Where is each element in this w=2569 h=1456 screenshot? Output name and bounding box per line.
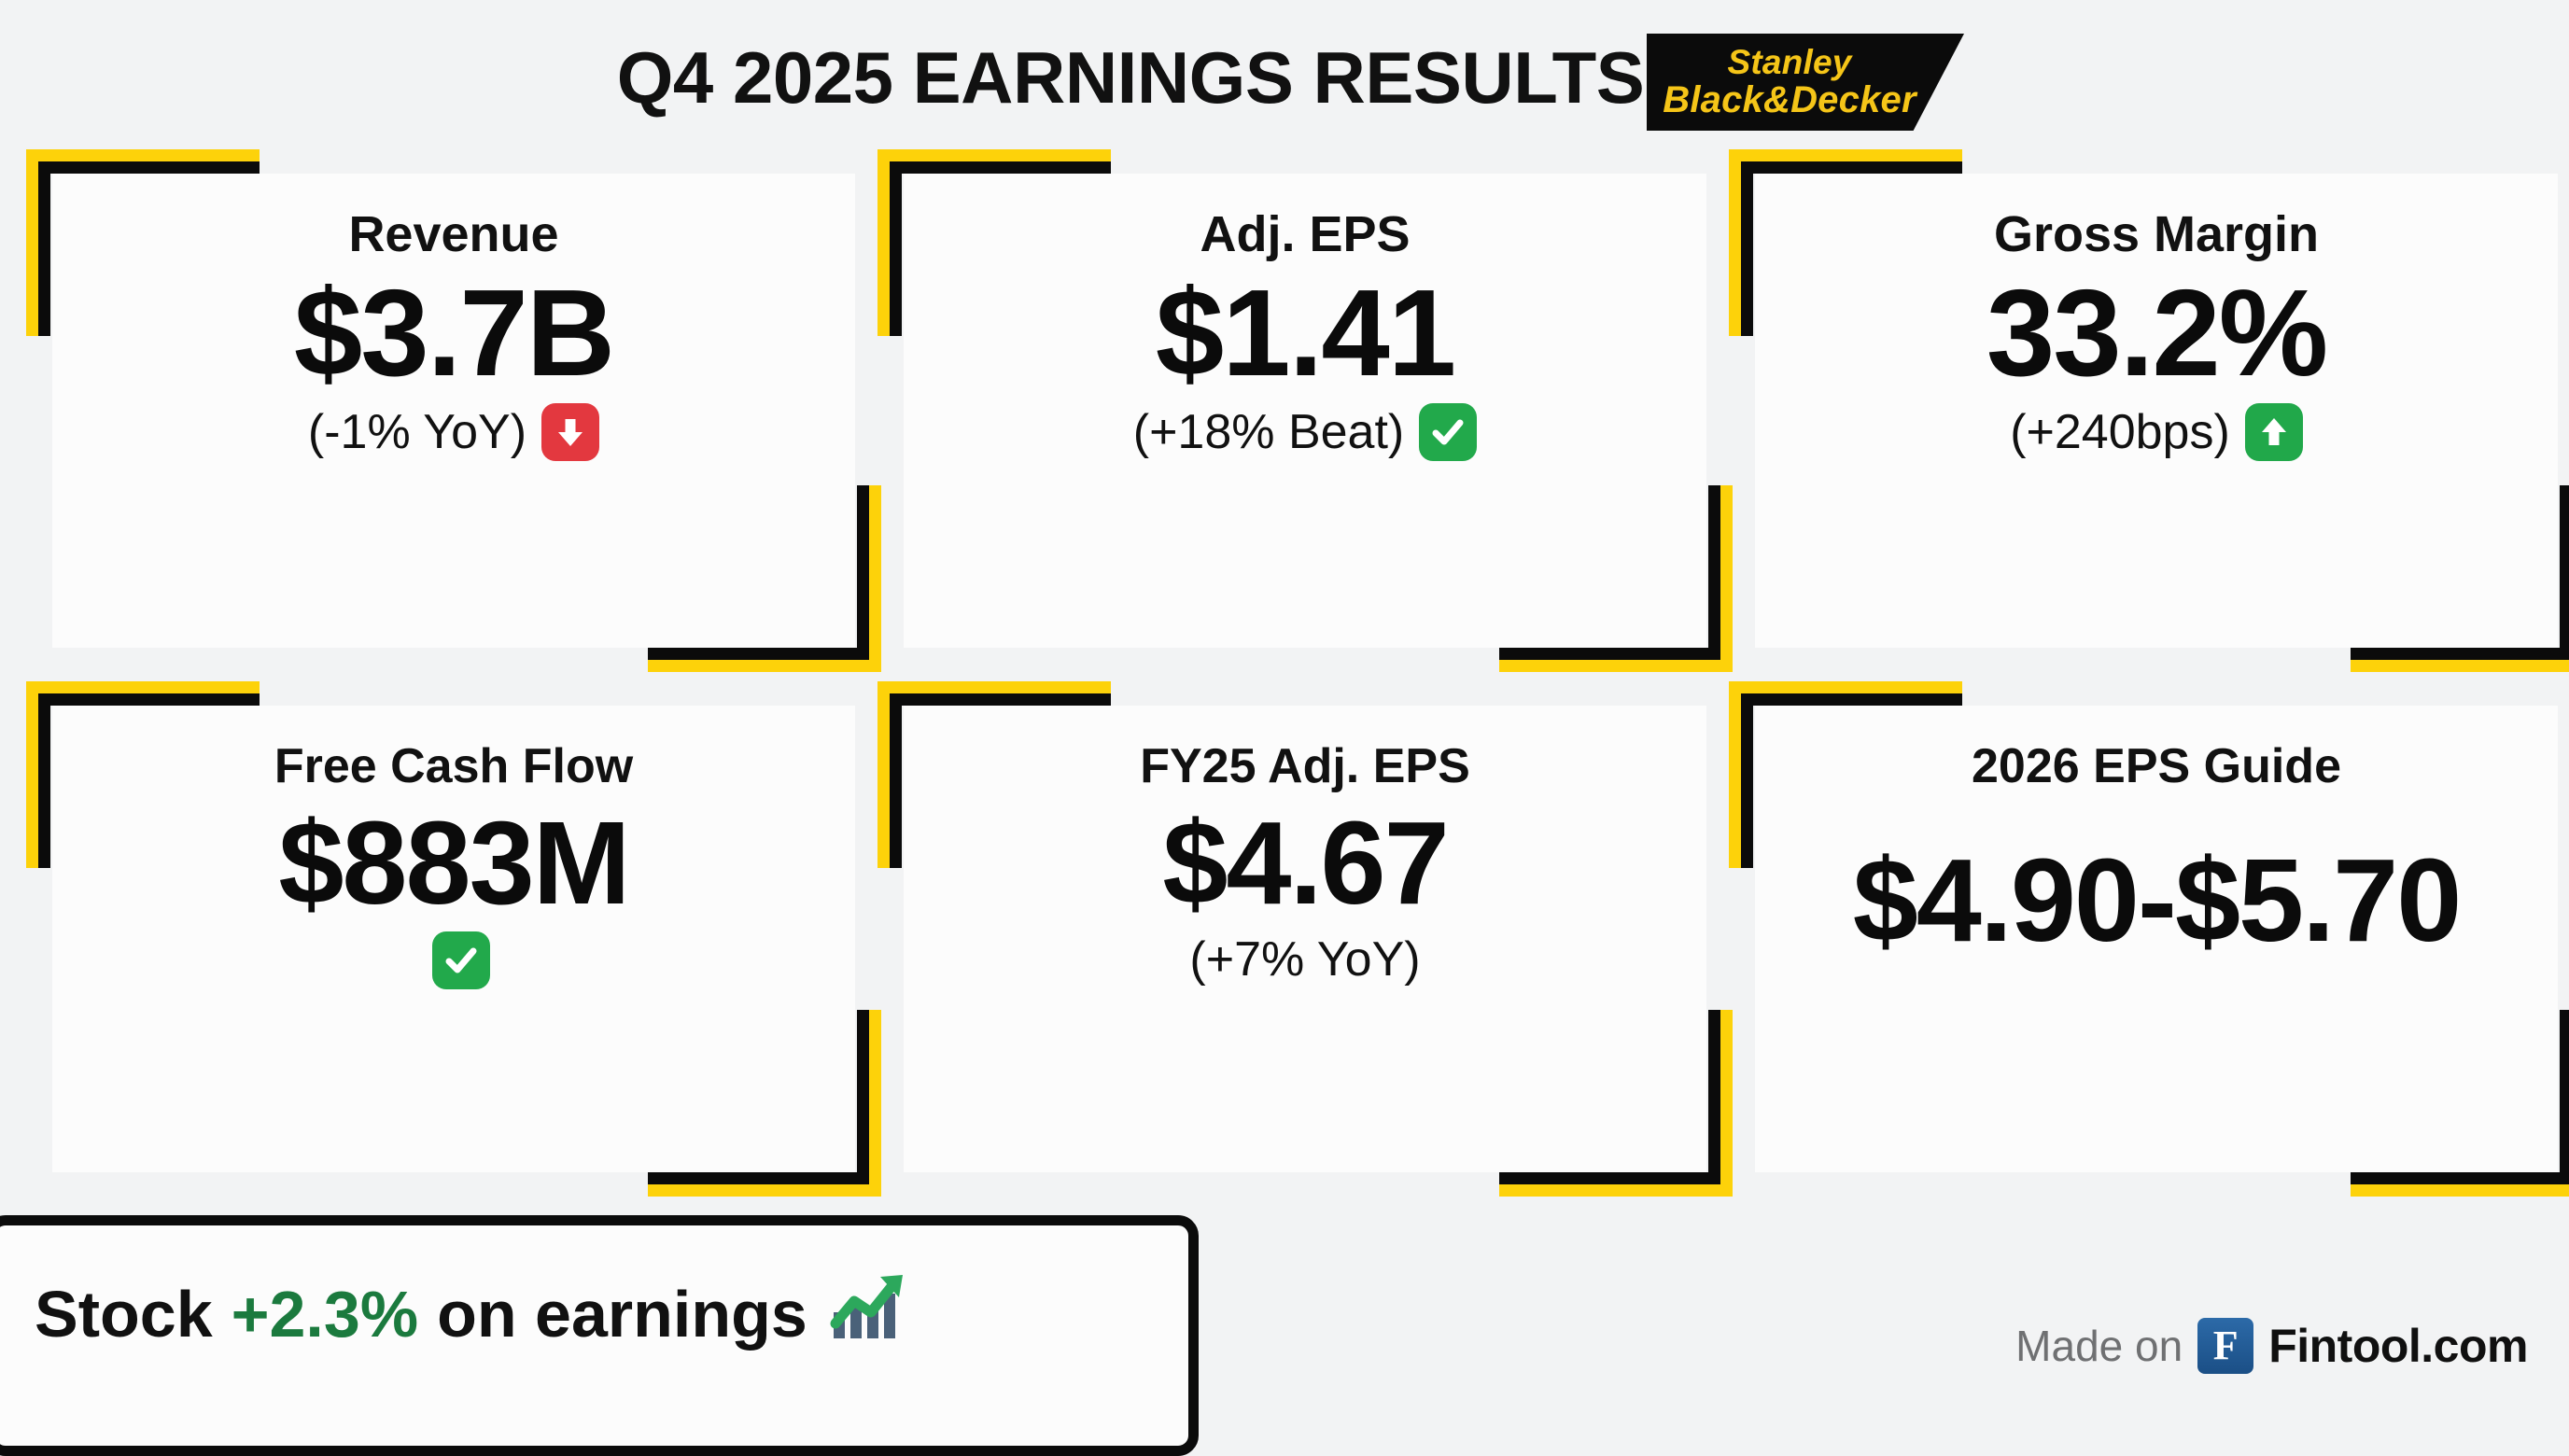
logo-text: Stanley Black&Decker	[1647, 34, 1964, 131]
metric-label: Revenue	[348, 205, 558, 263]
metric-label: 2026 EPS Guide	[1972, 737, 2341, 795]
down-arrow-icon	[541, 403, 599, 461]
metric-delta: (-1% YoY)	[308, 403, 599, 461]
metric-delta: (+7% YoY)	[1189, 931, 1420, 987]
stanley-black-and-decker-logo: Stanley Black&Decker	[1647, 34, 1964, 131]
stock-banner-prefix: Stock	[35, 1277, 213, 1351]
stock-change-percent: +2.3%	[213, 1277, 437, 1351]
metric-label: Gross Margin	[1994, 205, 2319, 263]
check-mark-icon	[432, 931, 490, 989]
metric-delta-text: (+240bps)	[2010, 404, 2230, 460]
metric-card-fy25-adj-eps: FY25 Adj. EPS $4.67 (+7% YoY)	[904, 706, 1706, 1172]
metric-delta-text: (+18% Beat)	[1133, 404, 1405, 460]
metric-value: $4.90-$5.70	[1853, 833, 2461, 969]
metric-delta	[417, 931, 490, 989]
metric-card-grid: Revenue $3.7B (-1% YoY) Adj. EPS $1.41 (…	[0, 149, 2569, 1213]
metric-value: $883M	[278, 795, 628, 931]
metric-value: $4.67	[1162, 795, 1447, 931]
metric-card-free-cash-flow: Free Cash Flow $883M	[52, 706, 855, 1172]
metric-delta-text: (+7% YoY)	[1189, 931, 1420, 987]
page-title: Q4 2025 EARNINGS RESULTS	[0, 35, 2569, 120]
metric-card-revenue: Revenue $3.7B (-1% YoY)	[52, 174, 855, 648]
stock-banner-suffix: on earnings	[437, 1277, 807, 1351]
logo-line-black-and-decker: Black&Decker	[1663, 80, 1916, 119]
metric-value: 33.2%	[1986, 263, 2326, 403]
logo-line-stanley: Stanley	[1727, 45, 1851, 80]
check-mark-icon	[1419, 403, 1477, 461]
metric-delta: (+240bps)	[2010, 403, 2303, 461]
metric-delta-text: (-1% YoY)	[308, 404, 526, 460]
up-arrow-icon	[2245, 403, 2303, 461]
footer-attribution: Made on F Fintool.com	[2015, 1318, 2528, 1374]
made-on-label: Made on	[2015, 1321, 2183, 1371]
metric-label: Free Cash Flow	[274, 737, 633, 795]
metric-value: $3.7B	[294, 263, 613, 403]
stock-reaction-banner: Stock +2.3% on earnings	[0, 1215, 1199, 1456]
metric-card-adj-eps: Adj. EPS $1.41 (+18% Beat)	[904, 174, 1706, 648]
fintool-logo-icon: F	[2197, 1318, 2253, 1374]
metric-card-gross-margin: Gross Margin 33.2% (+240bps)	[1755, 174, 2558, 648]
metric-label: Adj. EPS	[1200, 205, 1410, 263]
metric-label: FY25 Adj. EPS	[1140, 737, 1470, 795]
fintool-site-label: Fintool.com	[2268, 1319, 2528, 1373]
metric-value: $1.41	[1156, 263, 1454, 403]
metric-delta: (+18% Beat)	[1133, 403, 1478, 461]
header: Q4 2025 EARNINGS RESULTS Stanley Black&D…	[0, 0, 2569, 149]
metric-card-2026-eps-guide: 2026 EPS Guide $4.90-$5.70	[1755, 706, 2558, 1172]
chart-increasing-icon	[828, 1269, 908, 1359]
